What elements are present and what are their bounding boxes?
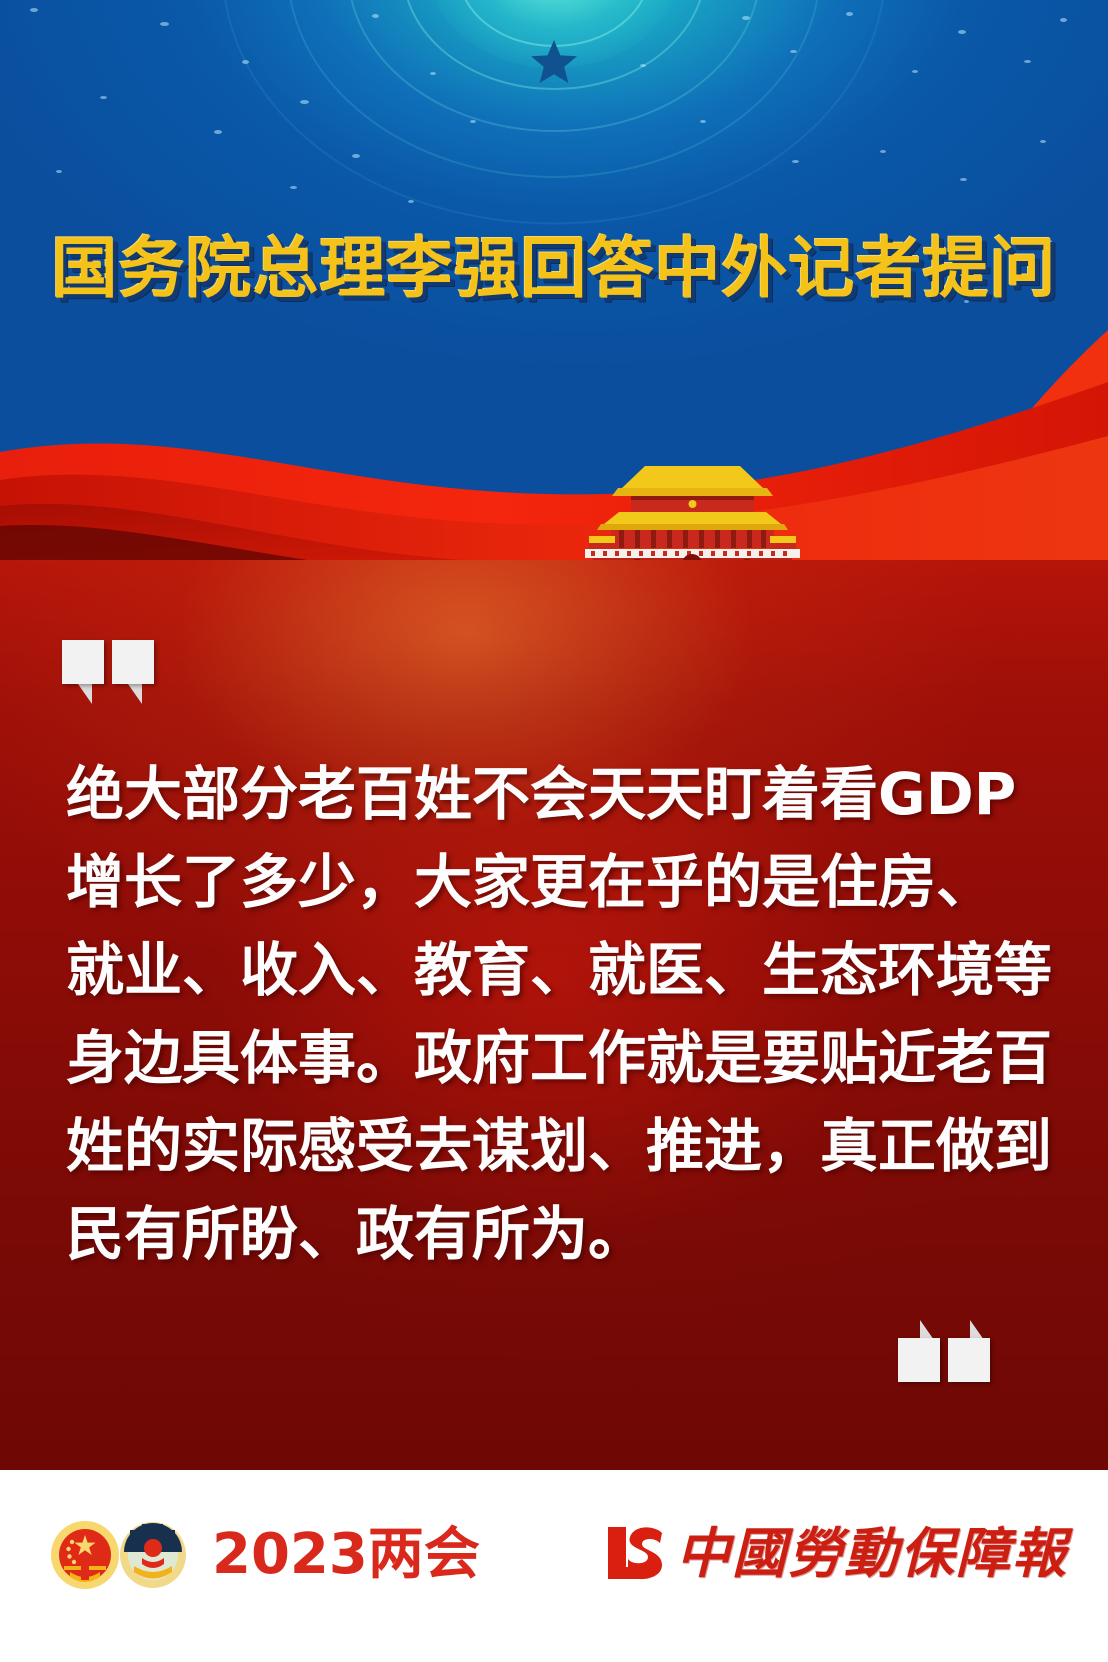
quote-line: 姓的实际感受去谋划、推进，真正做到 bbox=[66, 1102, 1026, 1190]
page-title: 国务院总理李强回答中外记者提问 bbox=[0, 215, 1108, 311]
quote-line: 民有所盼、政有所为。 bbox=[66, 1190, 1026, 1278]
tiananmen-gate-icon bbox=[585, 462, 800, 574]
ls-logo-icon bbox=[604, 1523, 666, 1583]
footer-left-group: 2023两会 bbox=[48, 1518, 480, 1592]
quote-text: 绝大部分老百姓不会天天盯着看GDP 增长了多少，大家更在乎的是住房、 就业、收入… bbox=[66, 750, 1026, 1278]
quote-line: 就业、收入、教育、就医、生态环境等 bbox=[66, 926, 1026, 1014]
quote-line: 身边具体事。政府工作就是要贴近老百 bbox=[66, 1014, 1026, 1102]
quote-line: 绝大部分老百姓不会天天盯着看GDP bbox=[66, 750, 1026, 838]
quote-close-icon bbox=[898, 1320, 1008, 1382]
red-ribbon-waves-decoration bbox=[0, 330, 1108, 580]
publisher-name: 中國勞動保障報 bbox=[676, 1522, 1068, 1584]
npc-national-emblem-icon bbox=[48, 1518, 122, 1592]
publisher-logo: 中國勞動保障報 bbox=[604, 1522, 1068, 1584]
footer-bar: 2023两会 中國勞動保障報 bbox=[0, 1470, 1108, 1662]
poster-root: 国务院总理李强回答中外记者提问 bbox=[0, 0, 1108, 1662]
quote-line: 增长了多少，大家更在乎的是住房、 bbox=[66, 838, 1026, 926]
quote-open-icon bbox=[62, 640, 172, 702]
meeting-label: 2023两会 bbox=[212, 1518, 480, 1592]
cppcc-emblem-icon bbox=[116, 1518, 190, 1592]
